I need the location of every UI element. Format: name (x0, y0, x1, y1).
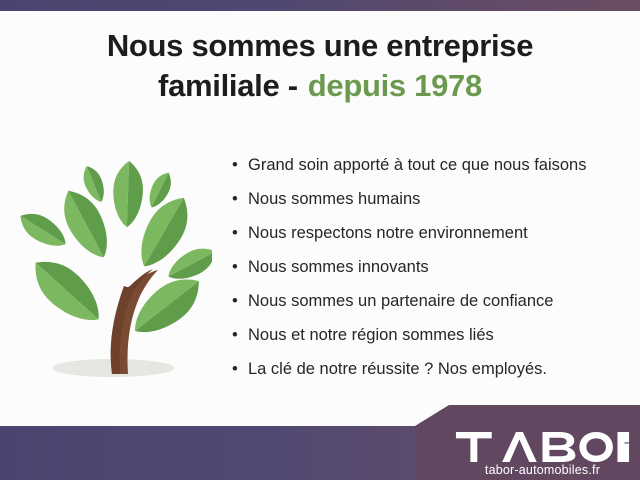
list-item: • Nous sommes innovants (231, 250, 631, 284)
tabor-wordmark-icon (455, 432, 630, 462)
list-item: • La clé de notre réussite ? Nos employé… (231, 352, 631, 386)
footer-bar: tabor-automobiles.fr (0, 426, 640, 480)
page-title: Nous sommes une entreprise familiale -de… (0, 26, 640, 105)
bullet-marker-icon: • (232, 182, 238, 216)
bullet-marker-icon: • (232, 250, 238, 284)
list-item-label: Nous respectons notre environnement (248, 224, 528, 242)
benefits-list: • Grand soin apporté à tout ce que nous … (231, 148, 631, 386)
title-line-2-accent: depuis 1978 (308, 68, 482, 103)
title-line-2: familiale -depuis 1978 (0, 66, 640, 106)
list-item: • Grand soin apporté à tout ce que nous … (231, 148, 631, 182)
bullet-marker-icon: • (232, 284, 238, 318)
leaf-lower-left (23, 249, 111, 334)
bullet-marker-icon: • (232, 148, 238, 182)
list-item: • Nous et notre région sommes liés (231, 318, 631, 352)
title-line-2-main: familiale - (158, 68, 298, 103)
list-item-label: Nous sommes un partenaire de confiance (248, 292, 553, 310)
leaf-lower-right (124, 267, 210, 345)
title-line-1: Nous sommes une entreprise (0, 26, 640, 66)
list-item-label: Nous et notre région sommes liés (248, 326, 494, 344)
bullet-marker-icon: • (232, 352, 238, 386)
bullet-marker-icon: • (232, 216, 238, 250)
brand-logo[interactable]: tabor-automobiles.fr (455, 432, 630, 477)
top-accent-bar (0, 0, 640, 11)
logo-website-label: tabor-automobiles.fr (455, 463, 630, 477)
slide-canvas: Nous sommes une entreprise familiale -de… (0, 0, 640, 480)
list-item: • Nous sommes humains (231, 182, 631, 216)
bullet-marker-icon: • (232, 318, 238, 352)
list-item-label: Nous sommes humains (248, 190, 420, 208)
list-item: • Nous sommes un partenaire de confiance (231, 284, 631, 318)
tree-illustration (12, 146, 212, 386)
list-item-label: Nous sommes innovants (248, 258, 429, 276)
leaf-mid-left (14, 206, 72, 254)
list-item-label: La clé de notre réussite ? Nos employés. (248, 360, 547, 378)
list-item: • Nous respectons notre environnement (231, 216, 631, 250)
leaf-top-center (112, 160, 144, 227)
list-item-label: Grand soin apporté à tout ce que nous fa… (248, 156, 586, 174)
leaf-upper-left (53, 183, 118, 265)
